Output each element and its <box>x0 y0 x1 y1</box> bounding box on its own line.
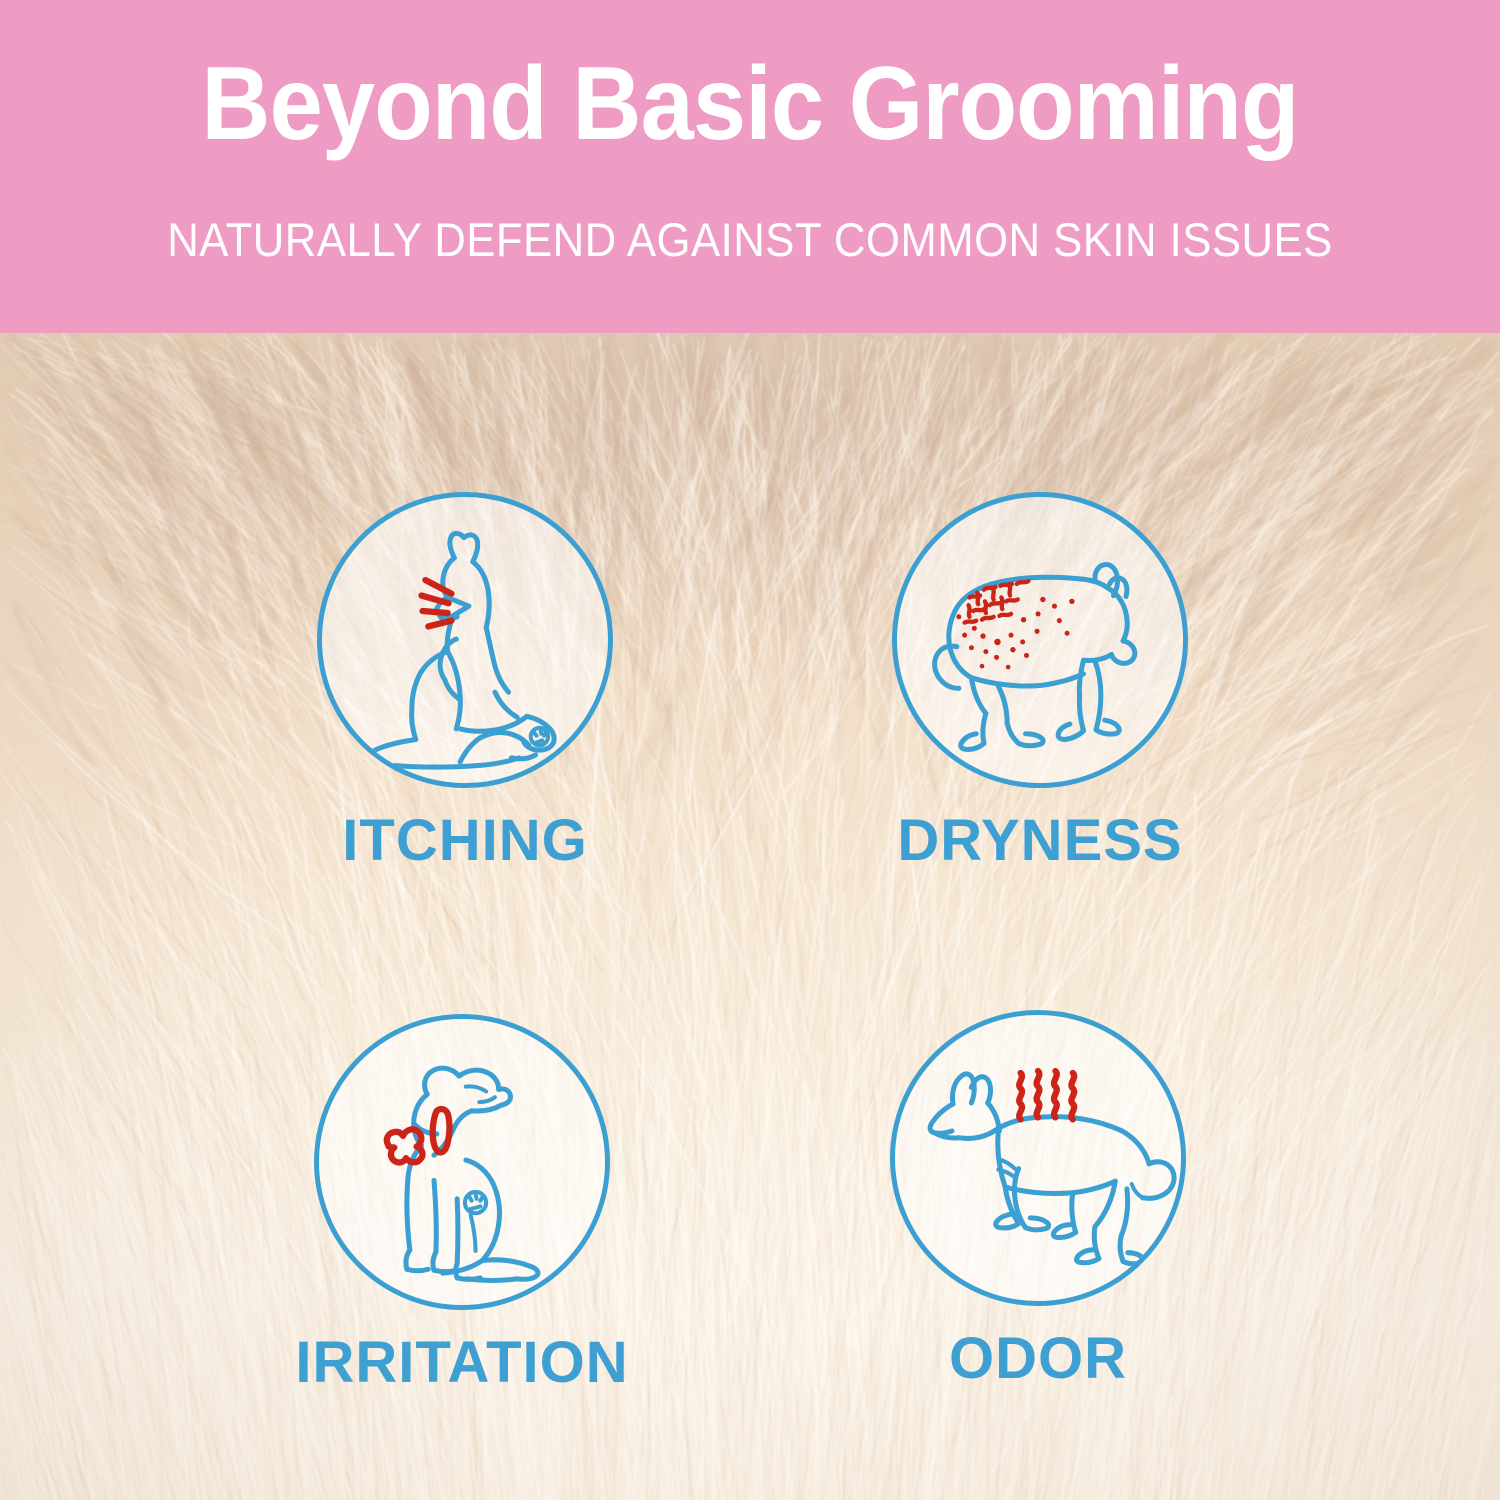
page-title: Beyond Basic Grooming <box>60 48 1440 160</box>
page-subtitle: NATURALLY DEFEND AGAINST COMMON SKIN ISS… <box>53 212 1448 268</box>
benefit-label-itching: ITCHING <box>295 810 635 872</box>
icon-circle-itching <box>317 492 613 788</box>
benefit-label-irritation: IRRITATION <box>292 1332 632 1394</box>
benefit-label-dryness: DRYNESS <box>870 810 1210 872</box>
icon-circle-odor <box>890 1010 1186 1306</box>
dog-scratching-icon <box>322 497 608 783</box>
dog-irritated-skin-icon <box>319 1019 605 1305</box>
benefit-item-odor[interactable]: ODOR <box>868 1010 1208 1390</box>
product-infographic: Beyond Basic Grooming NATURALLY DEFEND A… <box>0 0 1500 1500</box>
icon-circle-dryness <box>892 492 1188 788</box>
icon-circle-irritation <box>314 1014 610 1310</box>
benefit-item-itching[interactable]: ITCHING <box>295 492 635 872</box>
benefit-item-irritation[interactable]: IRRITATION <box>292 1014 632 1394</box>
fur-background-image <box>0 333 1500 1500</box>
benefit-item-dryness[interactable]: DRYNESS <box>870 492 1210 872</box>
header-banner: Beyond Basic Grooming NATURALLY DEFEND A… <box>0 0 1500 333</box>
dog-odor-icon <box>895 1015 1181 1301</box>
dog-dandruff-icon <box>897 497 1183 783</box>
benefit-label-odor: ODOR <box>868 1328 1208 1390</box>
